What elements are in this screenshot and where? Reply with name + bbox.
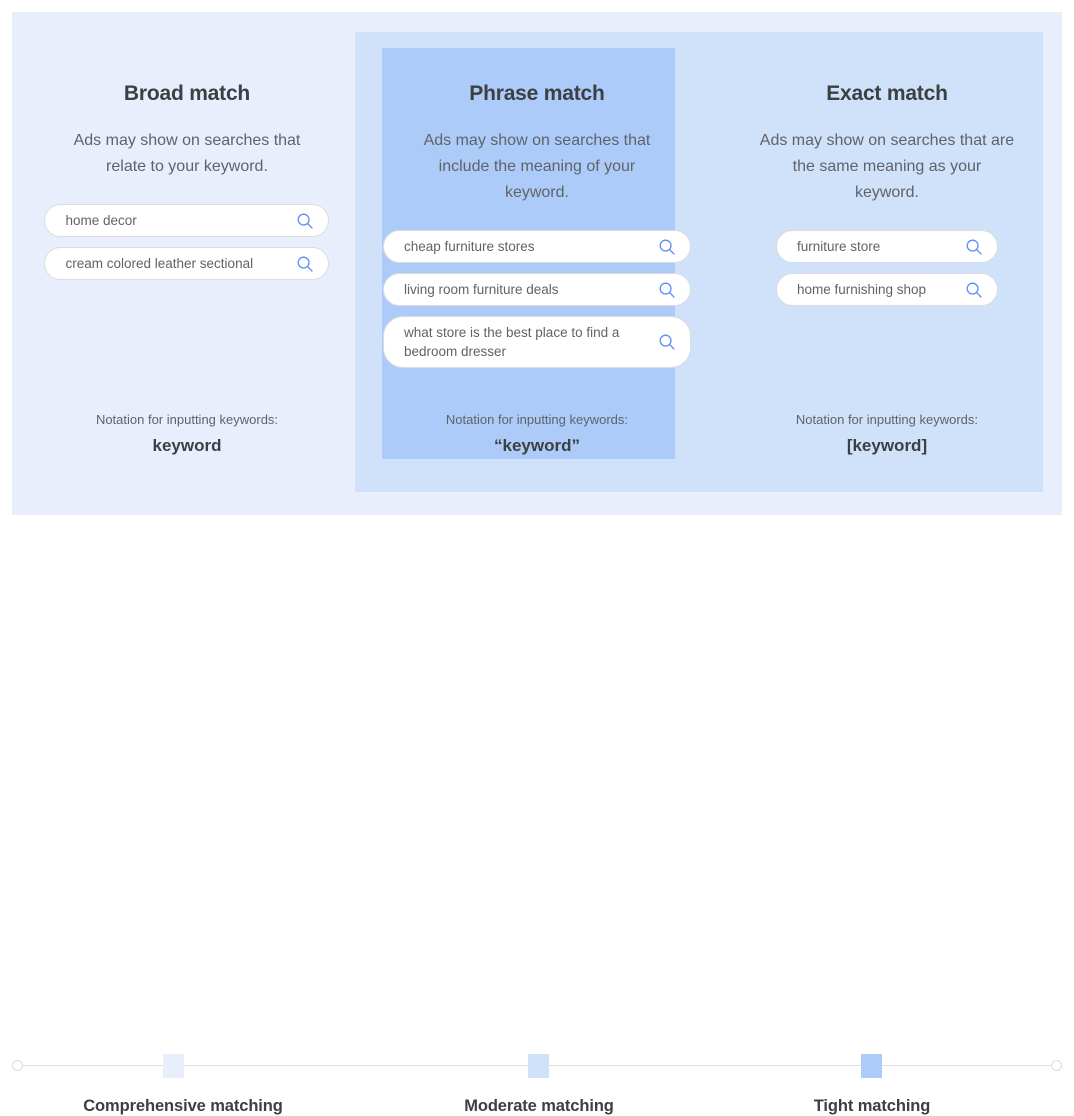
search-icon	[658, 281, 676, 299]
notation-label: Notation for inputting keywords:	[362, 412, 712, 427]
exact-match-title: Exact match	[826, 82, 948, 106]
scale-endcap-left-icon	[12, 1060, 23, 1071]
search-icon	[658, 333, 676, 351]
scale-label-tight: Tight matching	[702, 1097, 1042, 1116]
search-icon	[296, 255, 314, 273]
phrase-match-description: Ads may show on searches that include th…	[409, 128, 664, 206]
notation-value: [keyword]	[712, 436, 1062, 456]
search-query-pill[interactable]: home decor	[44, 204, 329, 237]
search-query-text: home decor	[65, 211, 288, 230]
search-query-text: what store is the best place to find a b…	[404, 323, 650, 361]
phrase-match-notation: Notation for inputting keywords: “keywor…	[362, 412, 712, 456]
broad-match-notation: Notation for inputting keywords: keyword	[12, 412, 362, 456]
scale-endcap-right-icon	[1051, 1060, 1062, 1071]
search-query-pill[interactable]: home furnishing shop	[776, 273, 998, 306]
search-query-pill[interactable]: furniture store	[776, 230, 998, 263]
matching-spectrum-scale: Comprehensive matching Moderate matching…	[0, 515, 1074, 627]
search-query-pill[interactable]: cheap furniture stores	[383, 230, 691, 263]
match-type-columns: Broad match Ads may show on searches tha…	[12, 12, 1062, 515]
search-query-pill[interactable]: what store is the best place to find a b…	[383, 316, 691, 368]
exact-match-notation: Notation for inputting keywords: [keywor…	[712, 412, 1062, 456]
column-phrase-match: Phrase match Ads may show on searches th…	[362, 12, 712, 515]
exact-match-description: Ads may show on searches that are the sa…	[759, 128, 1014, 206]
search-icon	[965, 281, 983, 299]
scale-marker-comprehensive	[163, 1054, 184, 1078]
broad-match-description: Ads may show on searches that relate to …	[59, 128, 314, 180]
notation-label: Notation for inputting keywords:	[12, 412, 362, 427]
scale-marker-moderate	[528, 1054, 549, 1078]
broad-match-title: Broad match	[124, 82, 250, 106]
search-query-pill[interactable]: living room furniture deals	[383, 273, 691, 306]
broad-match-query-list: home decor cream colored leather section…	[40, 204, 334, 280]
notation-value: keyword	[12, 436, 362, 456]
search-query-text: living room furniture deals	[404, 280, 650, 299]
scale-label-comprehensive: Comprehensive matching	[13, 1097, 353, 1116]
search-query-text: cheap furniture stores	[404, 237, 650, 256]
search-query-pill[interactable]: cream colored leather sectional	[44, 247, 329, 280]
match-types-diagram: Broad match Ads may show on searches tha…	[12, 12, 1062, 515]
scale-label-moderate: Moderate matching	[369, 1097, 709, 1116]
search-query-text: home furnishing shop	[797, 280, 957, 299]
column-broad-match: Broad match Ads may show on searches tha…	[12, 12, 362, 515]
column-exact-match: Exact match Ads may show on searches tha…	[712, 12, 1062, 515]
phrase-match-query-list: cheap furniture stores living room furni…	[390, 230, 684, 368]
phrase-match-title: Phrase match	[469, 82, 604, 106]
search-icon	[296, 212, 314, 230]
search-icon	[965, 238, 983, 256]
search-query-text: furniture store	[797, 237, 957, 256]
exact-match-query-list: furniture store home furnishing shop	[740, 230, 1034, 306]
scale-marker-tight	[861, 1054, 882, 1078]
notation-label: Notation for inputting keywords:	[712, 412, 1062, 427]
search-icon	[658, 238, 676, 256]
search-query-text: cream colored leather sectional	[65, 254, 288, 273]
notation-value: “keyword”	[362, 436, 712, 456]
